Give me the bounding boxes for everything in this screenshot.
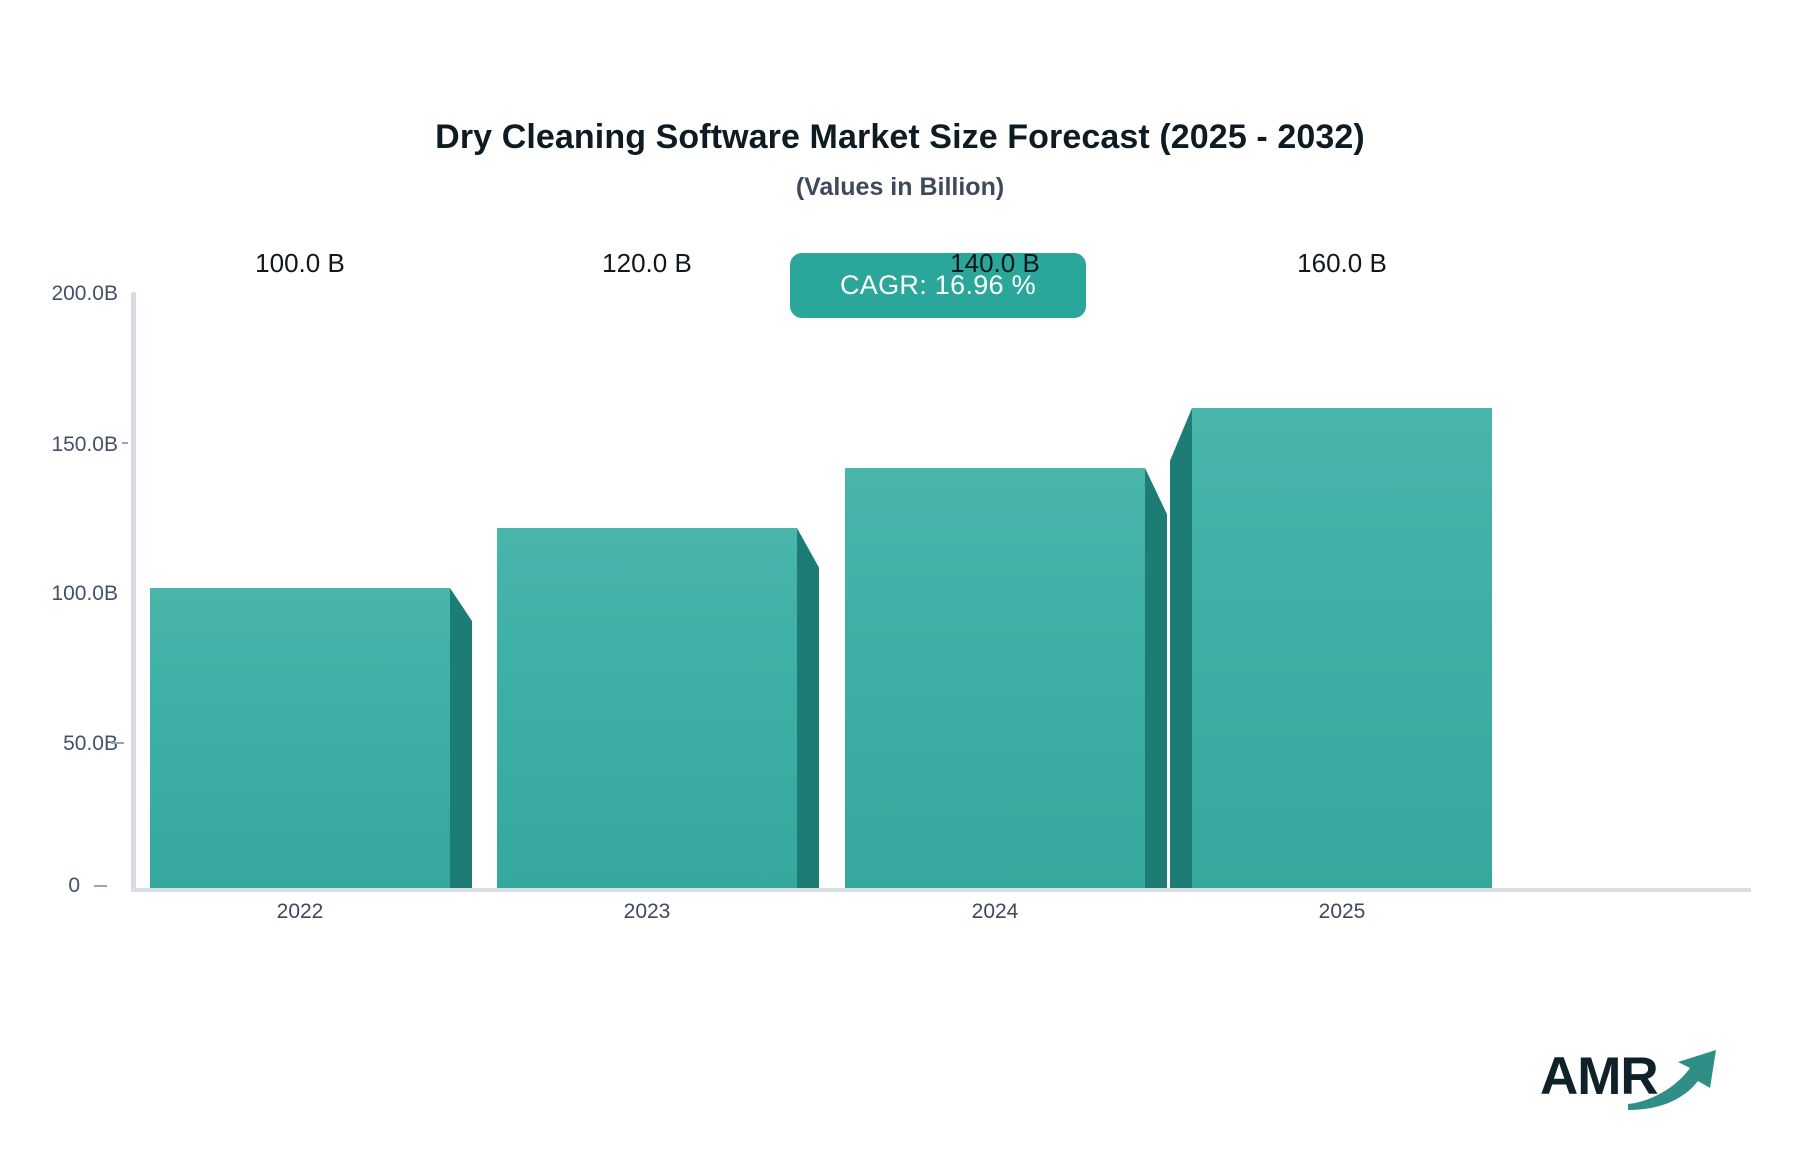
bar-side-2024 bbox=[1145, 468, 1167, 888]
bar-face-2024 bbox=[845, 468, 1145, 888]
plot-area: 200.0B 150.0B 100.0B 50.0B 0 100.0 B 120… bbox=[0, 0, 1800, 1156]
bar-2022[interactable]: 100.0 B bbox=[150, 288, 450, 888]
y-tick-label-150: 150.0B bbox=[18, 433, 118, 457]
bar-side-2025 bbox=[1170, 408, 1192, 888]
x-tick-label-2023: 2023 bbox=[497, 900, 797, 924]
y-tick-dash-150 bbox=[122, 442, 128, 444]
y-tick-dash-0 bbox=[94, 885, 107, 887]
bar-side-2023 bbox=[797, 528, 819, 888]
bar-face-2025 bbox=[1192, 408, 1492, 888]
bar-2025[interactable]: 160.0 B bbox=[1192, 288, 1492, 888]
bar-2024[interactable]: 140.0 B bbox=[845, 288, 1145, 888]
y-tick-label-100: 100.0B bbox=[18, 582, 118, 606]
chart-card: Dry Cleaning Software Market Size Foreca… bbox=[0, 0, 1800, 1156]
y-tick-label-200: 200.0B bbox=[18, 282, 118, 306]
bar-value-label-2025: 160.0 B bbox=[1297, 248, 1387, 279]
bar-2023[interactable]: 120.0 B bbox=[497, 288, 797, 888]
y-tick-label-50: 50.0B bbox=[18, 732, 118, 756]
bar-side-2022 bbox=[450, 588, 472, 888]
y-axis-line bbox=[131, 292, 136, 892]
bar-value-label-2024: 140.0 B bbox=[950, 248, 1040, 279]
bar-face-2022 bbox=[150, 588, 450, 888]
amr-logo: AMR bbox=[1540, 1040, 1725, 1120]
x-axis-line bbox=[131, 888, 1751, 892]
x-tick-label-2025: 2025 bbox=[1192, 900, 1492, 924]
x-tick-label-2022: 2022 bbox=[150, 900, 450, 924]
y-tick-label-0: 0 bbox=[18, 874, 80, 898]
bar-value-label-2022: 100.0 B bbox=[255, 248, 345, 279]
growth-arrow-icon bbox=[1626, 1044, 1726, 1114]
bar-face-2023 bbox=[497, 528, 797, 888]
y-tick-dash-50 bbox=[111, 742, 124, 744]
x-tick-label-2024: 2024 bbox=[845, 900, 1145, 924]
bar-value-label-2023: 120.0 B bbox=[602, 248, 692, 279]
